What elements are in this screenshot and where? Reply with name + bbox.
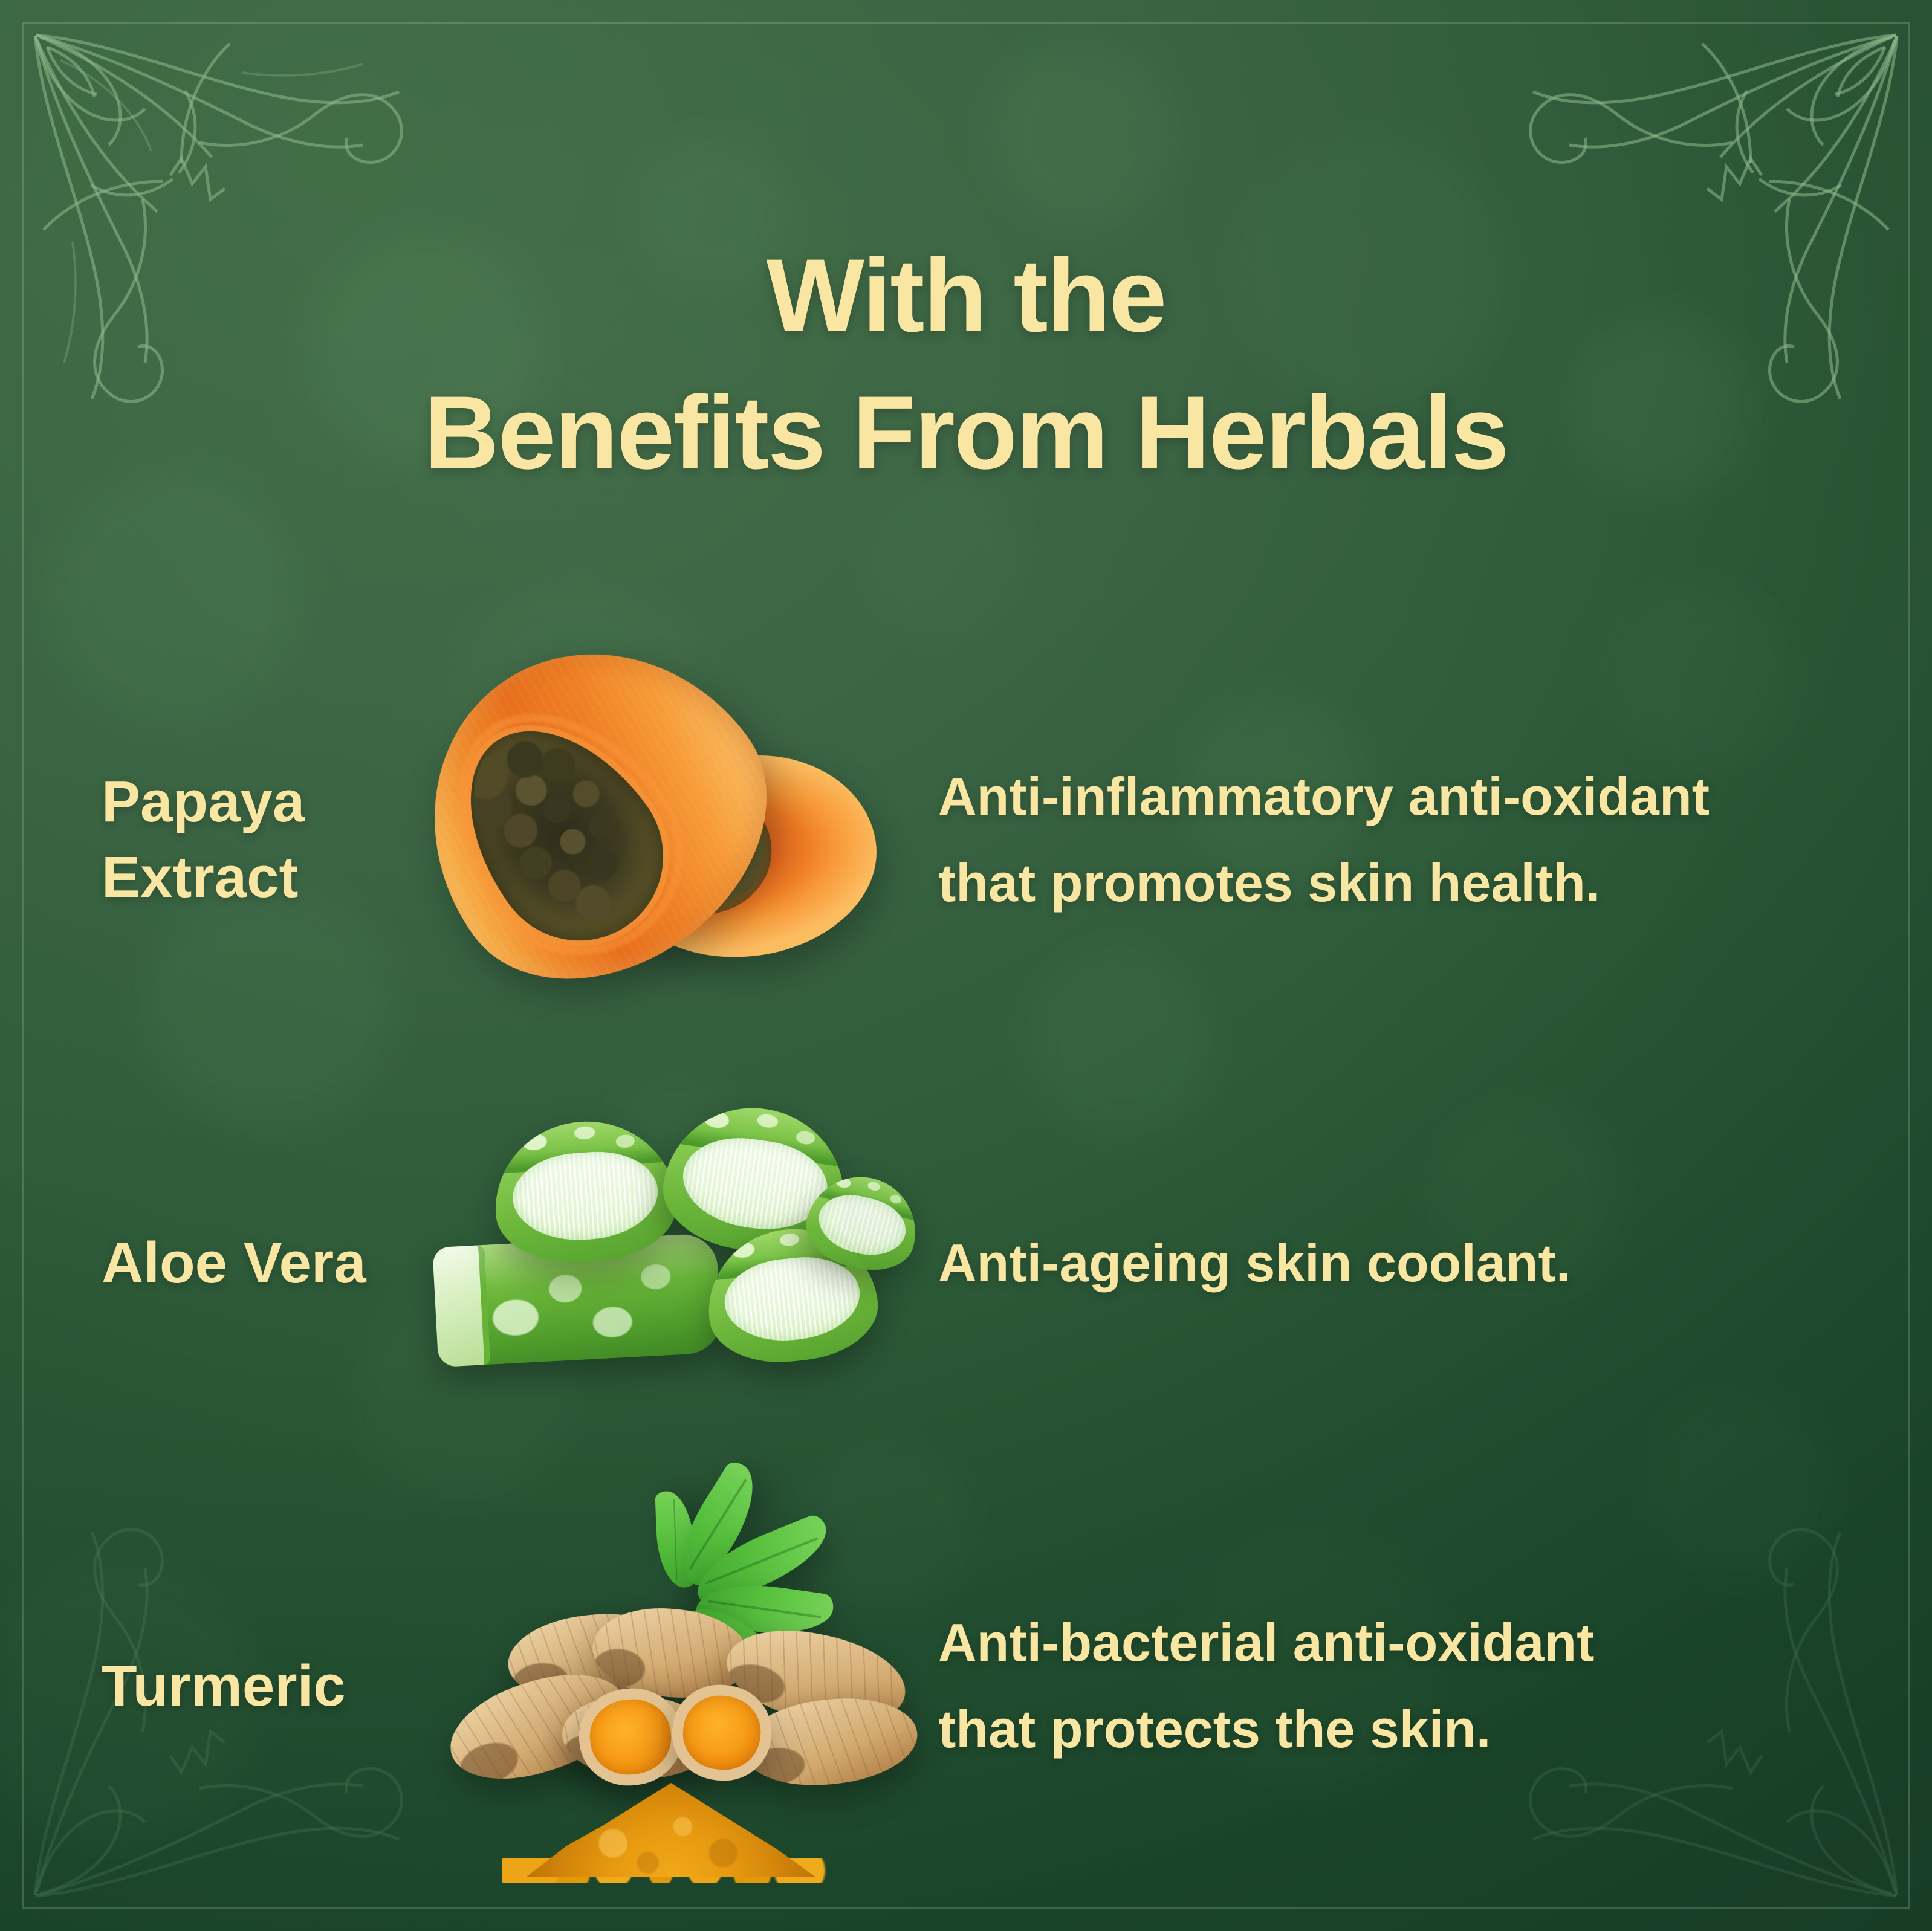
ingredient-name-papaya: Papaya Extract bbox=[0, 765, 399, 916]
aloe-slice-speckles bbox=[490, 1116, 680, 1268]
list-item: Aloe Vera bbox=[0, 1052, 1932, 1475]
papaya-half-front bbox=[363, 584, 822, 1038]
ingredient-name-line-1: Aloe Vera bbox=[102, 1226, 399, 1301]
ingredient-description-papaya: Anti-inflammatory anti-oxidant that prom… bbox=[925, 754, 1932, 926]
headline-line-1: With the bbox=[0, 227, 1932, 364]
ingredient-image-papaya bbox=[399, 625, 925, 1048]
turmeric-illustration bbox=[411, 1496, 913, 1871]
ingredient-name-turmeric: Turmeric bbox=[0, 1649, 399, 1724]
ingredient-description-turmeric: Anti-bacterial anti-oxidant that protect… bbox=[925, 1600, 1932, 1772]
ingredient-image-aloe-vera bbox=[399, 1053, 925, 1476]
ingredient-name-line-2: Extract bbox=[102, 840, 399, 916]
list-item: Papaya Extract Anti-inflammat bbox=[0, 629, 1932, 1052]
description-line-1: Anti-ageing skin coolant. bbox=[938, 1220, 1859, 1307]
page-title: With the Benefits From Herbals bbox=[0, 227, 1932, 502]
list-item: Turmeric bbox=[0, 1475, 1932, 1898]
ingredient-name-aloe-vera: Aloe Vera bbox=[0, 1226, 399, 1301]
aloe-stalk-cut-face bbox=[432, 1245, 490, 1367]
ingredient-image-turmeric bbox=[399, 1472, 925, 1895]
papaya-illustration bbox=[405, 642, 907, 1004]
description-line-1: Anti-bacterial anti-oxidant bbox=[938, 1600, 1859, 1686]
herbal-benefits-poster: With the Benefits From Herbals Papaya Ex… bbox=[0, 0, 1932, 1931]
ingredient-description-aloe-vera: Anti-ageing skin coolant. bbox=[925, 1220, 1932, 1307]
description-line-2: that protects the skin. bbox=[938, 1686, 1859, 1773]
ingredient-name-line-1: Papaya bbox=[102, 765, 399, 840]
ingredient-name-line-1: Turmeric bbox=[102, 1649, 399, 1724]
aloe-slice bbox=[490, 1116, 680, 1268]
aloe-vera-illustration bbox=[423, 1100, 901, 1390]
description-line-1: Anti-inflammatory anti-oxidant bbox=[938, 754, 1859, 840]
headline-line-2: Benefits From Herbals bbox=[0, 364, 1932, 502]
ingredient-list: Papaya Extract Anti-inflammat bbox=[0, 629, 1932, 1898]
description-line-2: that promotes skin health. bbox=[938, 840, 1859, 927]
